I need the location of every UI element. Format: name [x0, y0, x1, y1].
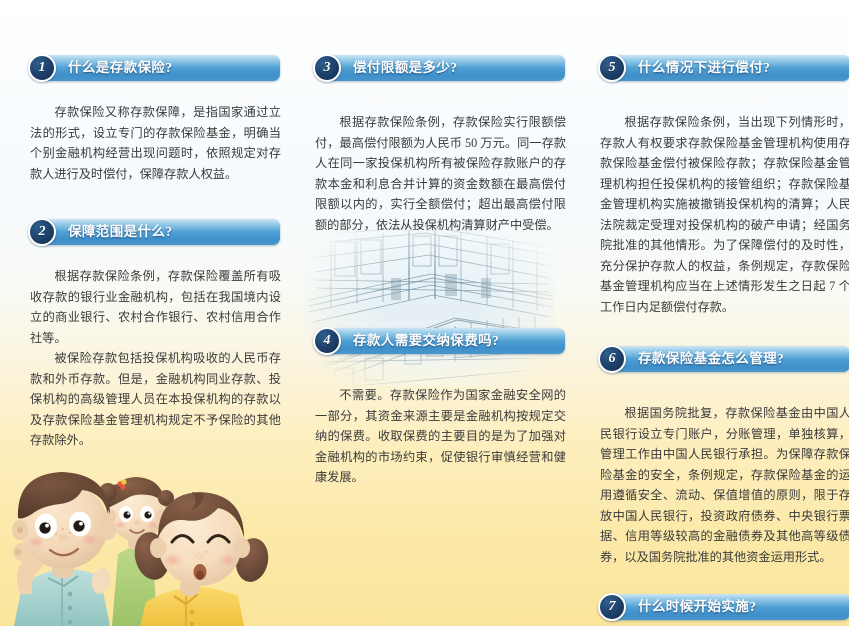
- paragraph: 根据国务院批复，存款保险基金由中国人民银行设立专门账户，分账管理，单独核算，管理…: [600, 403, 849, 567]
- question-number: 5: [600, 56, 624, 80]
- question-banner-3[interactable]: 3 偿付限额是多少?: [313, 54, 568, 82]
- column-3: 5 什么情况下进行偿付? 根据存款保险条例，当出现下列情形时，存款人有权要求存款…: [598, 0, 849, 626]
- question-banner-2[interactable]: 2 保障范围是什么?: [28, 218, 283, 246]
- question-number-badge: 6: [598, 345, 626, 373]
- column-1: 1 什么是存款保险? 存款保险又称存款保障，是指国家通过立法的形式，设立专门的存…: [28, 0, 283, 626]
- question-title: 保障范围是什么?: [68, 218, 172, 246]
- answer-body-6: 根据国务院批复，存款保险基金由中国人民银行设立专门账户，分账管理，单独核算，管理…: [598, 403, 849, 567]
- question-number: 2: [30, 220, 54, 244]
- column-2: 3 偿付限额是多少? 根据存款保险条例，存款保险实行限额偿付，最高偿付限额为人民…: [313, 0, 568, 626]
- question-number: 6: [600, 347, 624, 371]
- paragraph: 根据存款保险条例，存款保险覆盖所有吸收存款的银行业金融机构，包括在我国境内设立的…: [30, 266, 281, 348]
- question-number-badge: 7: [598, 593, 626, 621]
- answer-body-2: 根据存款保险条例，存款保险覆盖所有吸收存款的银行业金融机构，包括在我国境内设立的…: [28, 266, 283, 451]
- question-banner-4[interactable]: 4 存款人需要交纳保费吗?: [313, 327, 568, 355]
- question-number: 3: [315, 56, 339, 80]
- question-number-badge: 5: [598, 54, 626, 82]
- question-title: 什么情况下进行偿付?: [638, 54, 770, 82]
- question-banner-5[interactable]: 5 什么情况下进行偿付?: [598, 54, 849, 82]
- question-banner-6[interactable]: 6 存款保险基金怎么管理?: [598, 345, 849, 373]
- question-title: 存款人需要交纳保费吗?: [353, 327, 499, 355]
- paragraph: 不需要。存款保险作为国家金融安全网的一部分，其资金来源主要是金融机构按规定交纳的…: [315, 385, 566, 488]
- question-number-badge: 4: [313, 327, 341, 355]
- question-title: 什么是存款保险?: [68, 54, 172, 82]
- paragraph: 根据存款保险条例，当出现下列情形时，存款人有权要求存款保险基金管理机构使用存款保…: [600, 112, 849, 317]
- question-title: 存款保险基金怎么管理?: [638, 345, 784, 373]
- paragraph: 存款保险又称存款保障，是指国家通过立法的形式，设立专门的存款保险基金，明确当个别…: [30, 102, 281, 184]
- question-number: 7: [600, 595, 624, 619]
- question-number-badge: 2: [28, 218, 56, 246]
- paragraph: 被保险存款包括投保机构吸收的人民币存款和外币存款。但是，金融机构同业存款、投保机…: [30, 348, 281, 451]
- answer-body-3: 根据存款保险条例，存款保险实行限额偿付，最高偿付限额为人民币 50 万元。同一存…: [313, 112, 568, 235]
- question-title: 偿付限额是多少?: [353, 54, 457, 82]
- question-title: 什么时候开始实施?: [638, 593, 756, 621]
- answer-body-1: 存款保险又称存款保障，是指国家通过立法的形式，设立专门的存款保险基金，明确当个别…: [28, 102, 283, 184]
- question-number: 1: [30, 56, 54, 80]
- question-number: 4: [315, 329, 339, 353]
- question-banner-1[interactable]: 1 什么是存款保险?: [28, 54, 283, 82]
- question-banner-7[interactable]: 7 什么时候开始实施?: [598, 593, 849, 621]
- question-number-badge: 1: [28, 54, 56, 82]
- answer-body-4: 不需要。存款保险作为国家金融安全网的一部分，其资金来源主要是金融机构按规定交纳的…: [313, 385, 568, 488]
- paragraph: 根据存款保险条例，存款保险实行限额偿付，最高偿付限额为人民币 50 万元。同一存…: [315, 112, 566, 235]
- answer-body-5: 根据存款保险条例，当出现下列情形时，存款人有权要求存款保险基金管理机构使用存款保…: [598, 112, 849, 317]
- poster-page: 1 什么是存款保险? 存款保险又称存款保障，是指国家通过立法的形式，设立专门的存…: [0, 0, 849, 626]
- question-number-badge: 3: [313, 54, 341, 82]
